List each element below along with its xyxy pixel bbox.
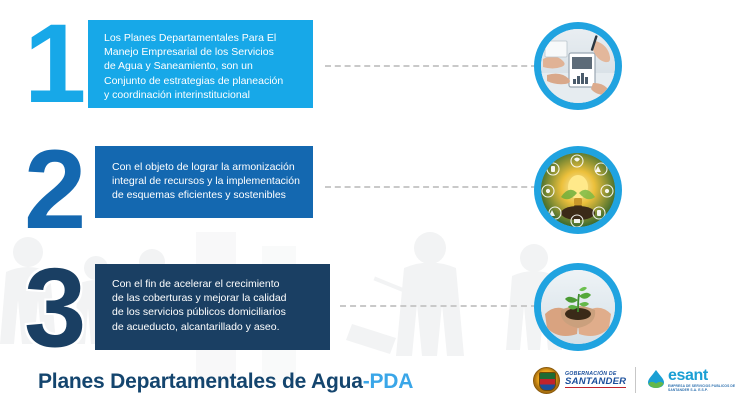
step-text-line: Con el objeto de lograr la armonización <box>112 160 301 174</box>
step-text-line: y coordinación interinstitucional <box>104 88 301 102</box>
step-text-line: de esquemas eficientes y sostenibles <box>112 188 301 202</box>
business-meeting-tablet-chart-photo <box>541 29 615 103</box>
logo-divider <box>635 367 636 393</box>
step-number-1: 1 <box>24 14 82 114</box>
hands-holding-seedling-photo <box>541 270 615 344</box>
step-text-line: de los servicios públicos domiciliarios <box>112 305 318 319</box>
gobernacion-logo-text: GOBERNACIÓN DE SANTANDER <box>565 372 626 389</box>
step-text-box-3: Con el fin de acelerar el crecimiento de… <box>95 264 330 350</box>
step-number-3: 3 <box>24 258 82 358</box>
connector-dashes-1 <box>325 65 537 67</box>
step-text-line: Los Planes Departamentales Para El <box>104 31 301 45</box>
step-text-line: Con el fin de acelerar el crecimiento <box>112 277 318 291</box>
glowing-lightbulb-eco-icons-photo <box>541 153 615 227</box>
connector-dashes-3 <box>340 305 537 307</box>
step-image-circle-2 <box>534 146 622 234</box>
step-image-3 <box>541 270 615 344</box>
esant-logo-text: esant EMPRESA DE SERVICIOS PUBLICOS DE S… <box>668 368 740 392</box>
step-number-2: 2 <box>24 140 82 240</box>
step-text-line: de Agua y Saneamiento, son un <box>104 59 301 73</box>
step-image-circle-1 <box>534 22 622 110</box>
esant-name: esant <box>668 368 740 384</box>
step-text-line: de las coberturas y mejorar la calidad <box>112 291 318 305</box>
step-text-box-1: Los Planes Departamentales Para El Manej… <box>88 20 313 108</box>
esant-logo: esant EMPRESA DE SERVICIOS PUBLICOS DE S… <box>645 368 740 392</box>
page-title: Planes Departamentales de Agua-PDA <box>38 370 413 394</box>
esant-water-drop-leaf-mark-icon <box>645 369 667 391</box>
logo-bar: GOBERNACIÓN DE SANTANDER esant EMPRESA D… <box>533 364 740 396</box>
santander-coat-of-arms-icon <box>533 367 560 394</box>
step-image-1 <box>541 29 615 103</box>
step-text-line: de acueducto, alcantarillado y aseo. <box>112 320 318 334</box>
step-text-line: integral de recursos y la implementación <box>112 174 301 188</box>
gobernacion-santander-logo: GOBERNACIÓN DE SANTANDER <box>533 367 626 394</box>
step-text-box-2: Con el objeto de lograr la armonización … <box>95 146 313 218</box>
step-image-2 <box>541 153 615 227</box>
step-image-circle-3 <box>534 263 622 351</box>
esant-subtitle: EMPRESA DE SERVICIOS PUBLICOS DE SANTAND… <box>668 385 740 392</box>
page-title-main: Planes Departamentales de Agua <box>38 370 363 393</box>
connector-dashes-2 <box>325 186 537 188</box>
step-text-line: Manejo Empresarial de los Servicios <box>104 45 301 59</box>
gobernacion-line2: SANTANDER <box>565 377 626 389</box>
page-title-accent: -PDA <box>363 370 414 393</box>
step-text-line: Conjunto de estrategias de planeación <box>104 74 301 88</box>
infographic-slide: 1 Los Planes Departamentales Para El Man… <box>0 0 740 407</box>
